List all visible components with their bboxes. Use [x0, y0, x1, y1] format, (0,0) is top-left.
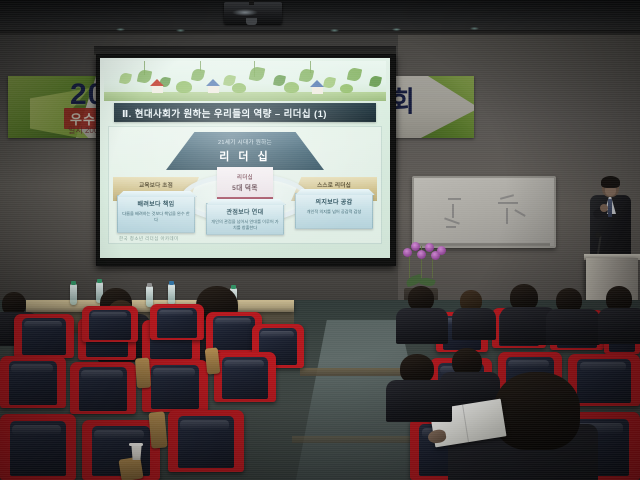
slide-body: 21세기 시대가 원하는 리 더 십 교육보다 초점 (Teaching) (C… [108, 126, 382, 244]
box-desc: 개인적 의지를 넘어 공감적 감성 [303, 209, 366, 215]
ceiling [0, 0, 640, 34]
bush-icon [176, 81, 192, 93]
whiteboard-tray [418, 243, 550, 246]
seat-armrest [148, 411, 167, 448]
slide-bottom-boxes: 배려보다 책임 다름을 배려하는 것보다 책임을 완수 한다 관점보다 연대 개… [115, 189, 375, 235]
bush-icon [284, 82, 299, 93]
auditorium-seat[interactable] [14, 314, 74, 358]
auditorium-seat[interactable] [142, 360, 208, 412]
ceiling-light [392, 28, 401, 31]
presentation-slide: Ⅱ. 현대사회가 원하는 우리들의 역량 – 리더십 (1) 21세기 시대가 … [100, 58, 390, 258]
leaf-icon [119, 72, 132, 85]
presenter-tie [608, 199, 612, 217]
gold-right-title: 스스로 리더십 [317, 181, 351, 189]
projector-glow [232, 9, 258, 16]
slide-box: 의지보다 공감 개인적 의지를 넘어 공감적 감성 [295, 193, 373, 229]
leaf-icon [369, 75, 382, 88]
orchid-flower [437, 246, 446, 255]
house-icon [312, 86, 323, 94]
seat-armrest [135, 358, 151, 389]
projector-lens [246, 18, 257, 25]
ceiling-rail [0, 30, 640, 35]
water-bottle [146, 286, 153, 307]
leaf-icon [191, 68, 205, 82]
hub-line-1: 리더십 [237, 173, 253, 181]
water-bottle [70, 284, 77, 305]
slide-box: 배려보다 책임 다름을 배려하는 것보다 책임을 완수 한다 [117, 195, 195, 233]
lecture-hall-photo: 200 수회 우수취업 안전학교 일시 2009 학교 한양공학교 [0, 0, 640, 480]
orchid-flower [417, 250, 426, 259]
box-title: 의지보다 공감 [316, 197, 353, 206]
box-title: 배려보다 책임 [138, 199, 175, 208]
auditorium-seat[interactable] [150, 304, 204, 340]
presenter-hair [601, 176, 620, 188]
slide-title: Ⅱ. 현대사회가 원하는 우리들의 역량 – 리더십 (1) [114, 103, 376, 122]
box-desc: 다름을 배려하는 것보다 책임을 완수 한다 [118, 211, 194, 224]
slide-header-decoration [104, 61, 386, 101]
roof-subtitle: 21세기 시대가 원하는 [218, 138, 272, 146]
auditorium-seat[interactable] [0, 356, 66, 408]
slide-roof-header: 21세기 시대가 원하는 리 더 십 [166, 132, 324, 170]
ceiling-light [470, 27, 479, 30]
leaf-icon [249, 66, 266, 83]
orchid-flower [403, 248, 412, 257]
roof-main-title: 리 더 십 [219, 148, 270, 164]
auditorium-seat[interactable] [214, 352, 276, 402]
projector-mount [249, 0, 254, 5]
water-bottle [168, 284, 175, 305]
auditorium-seat[interactable] [168, 410, 244, 472]
auditorium-seat[interactable] [0, 414, 76, 480]
ceiling-light [330, 29, 339, 32]
ceiling-light [176, 29, 185, 32]
paper-cup-lip [129, 443, 143, 446]
bush-icon [340, 84, 353, 93]
leaf-icon [347, 67, 362, 82]
projection-screen: Ⅱ. 현대사회가 원하는 우리들의 역량 – 리더십 (1) 21세기 시대가 … [100, 58, 390, 258]
presenter-hand [600, 204, 608, 212]
microphone-icon [595, 232, 601, 238]
slide-footer: 한국 청소년 리더십 아카데미 [119, 236, 179, 242]
auditorium-seat[interactable] [82, 306, 138, 342]
auditorium-seat[interactable] [70, 362, 136, 414]
leaf-icon [323, 76, 336, 89]
box-title: 관점보다 연대 [227, 207, 264, 216]
box-desc: 개인의 관점을 넘어서 연대를 이루어 가치를 창출한다 [207, 219, 283, 232]
house-icon [208, 85, 219, 93]
whiteboard [412, 176, 556, 248]
decoration-ground [104, 92, 386, 101]
seat-armrest [205, 347, 221, 374]
bush-icon [232, 83, 246, 93]
ceiling-light [116, 28, 125, 31]
house-icon [152, 85, 163, 93]
slide-box: 관점보다 연대 개인의 관점을 넘어서 연대를 이루어 가치를 창출한다 [206, 203, 284, 235]
